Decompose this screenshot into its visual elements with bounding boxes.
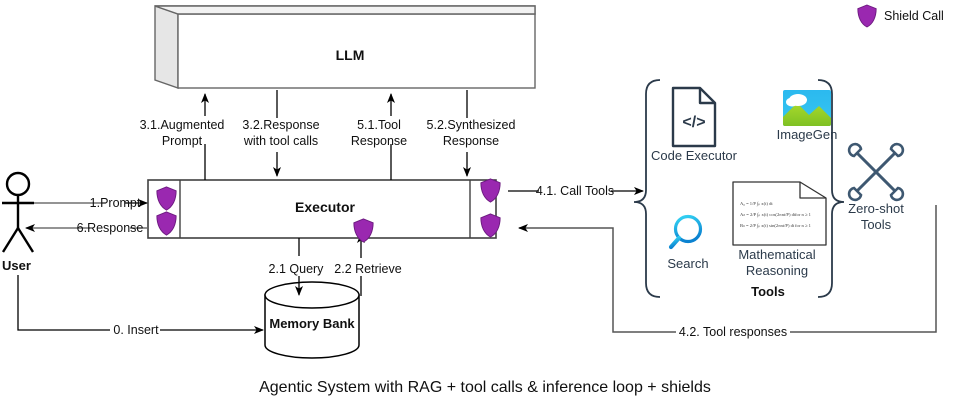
llm-label: LLM xyxy=(336,47,365,63)
edge-4-1-call-tools: 4.1. Call Tools xyxy=(508,184,643,198)
tool-code-executor[interactable]: </> Code Executor xyxy=(651,88,738,163)
edge-3-2-label-line2: with tool calls xyxy=(243,134,318,148)
edge-6-label: 6.Response xyxy=(77,221,144,235)
tool-zero-shot-tools[interactable]: Zero-shot Tools xyxy=(848,144,904,232)
tool-search[interactable]: Search xyxy=(667,217,708,272)
tools-group-label: Tools xyxy=(751,284,785,299)
memory-bank-node[interactable]: Memory Bank xyxy=(265,282,359,358)
tool-math-label-line1: Mathematical xyxy=(738,247,815,262)
edge-4-2-label: 4.2. Tool responses xyxy=(679,325,787,339)
edge-1-label: 1.Prompt xyxy=(90,196,141,210)
edge-3-1-label-line1: 3.1.Augmented xyxy=(140,118,225,132)
edge-5-2-synthesized-response: 5.2.Synthesized Response xyxy=(427,90,516,176)
tool-math-label-line2: Reasoning xyxy=(746,263,808,278)
tool-imagegen-label: ImageGen xyxy=(777,127,838,142)
diagram-caption: Agentic System with RAG + tool calls & i… xyxy=(259,379,711,396)
edge-2-1-label: 2.1 Query xyxy=(269,262,325,276)
edge-5-1-tool-response: 5.1.Tool Response xyxy=(351,94,407,180)
edge-0-label: 0. Insert xyxy=(113,323,159,337)
edge-2-2-label: 2.2 Retrieve xyxy=(334,262,401,276)
legend: Shield Call xyxy=(858,5,944,27)
tool-search-label: Search xyxy=(667,256,708,271)
legend-label: Shield Call xyxy=(884,9,944,23)
edge-6-response: 6.Response xyxy=(26,221,147,235)
tool-code-executor-label: Code Executor xyxy=(651,148,738,163)
edge-5-1-label-line2: Response xyxy=(351,134,407,148)
edge-5-2-label-line2: Response xyxy=(443,134,499,148)
user-actor[interactable]: User xyxy=(2,173,34,273)
diagram-canvas: LLM Executor 3.1.Augmented Prompt 3.2.Re… xyxy=(0,0,970,411)
llm-node[interactable]: LLM xyxy=(155,6,558,88)
formula-line-2-cond: for n ≥ 1 xyxy=(795,212,812,217)
tool-zeroshot-label-line2: Tools xyxy=(861,217,892,232)
user-label: User xyxy=(2,258,31,273)
executor-node[interactable]: Executor xyxy=(148,180,496,238)
edge-5-1-label-line1: 5.1.Tool xyxy=(357,118,401,132)
tool-mathematical-reasoning[interactable]: A₀ = 1/P ∫ₚ x(t) dt Aₙ = 2/P ∫ₚ x(t) cos… xyxy=(733,182,826,278)
edge-3-1-label-line2: Prompt xyxy=(162,134,203,148)
formula-line-3-cond: for n ≥ 1 xyxy=(795,223,812,228)
legend-shield-icon xyxy=(858,5,876,27)
edge-5-2-label-line1: 5.2.Synthesized xyxy=(427,118,516,132)
edge-3-2-label-line1: 3.2.Response xyxy=(242,118,319,132)
code-glyph: </> xyxy=(682,114,705,131)
edge-1-prompt: 1.Prompt xyxy=(34,196,147,210)
edge-4-1-label: 4.1. Call Tools xyxy=(536,184,614,198)
executor-label: Executor xyxy=(295,199,355,215)
edge-0-insert: 0. Insert xyxy=(18,275,263,337)
memory-bank-label: Memory Bank xyxy=(269,316,355,331)
edge-3-2-response-with-tool-calls: 3.2.Response with tool calls xyxy=(242,90,319,176)
tool-zeroshot-label-line1: Zero-shot xyxy=(848,201,904,216)
tool-imagegen[interactable]: ImageGen xyxy=(777,90,838,142)
edge-3-1-augmented-prompt: 3.1.Augmented Prompt xyxy=(140,94,225,180)
